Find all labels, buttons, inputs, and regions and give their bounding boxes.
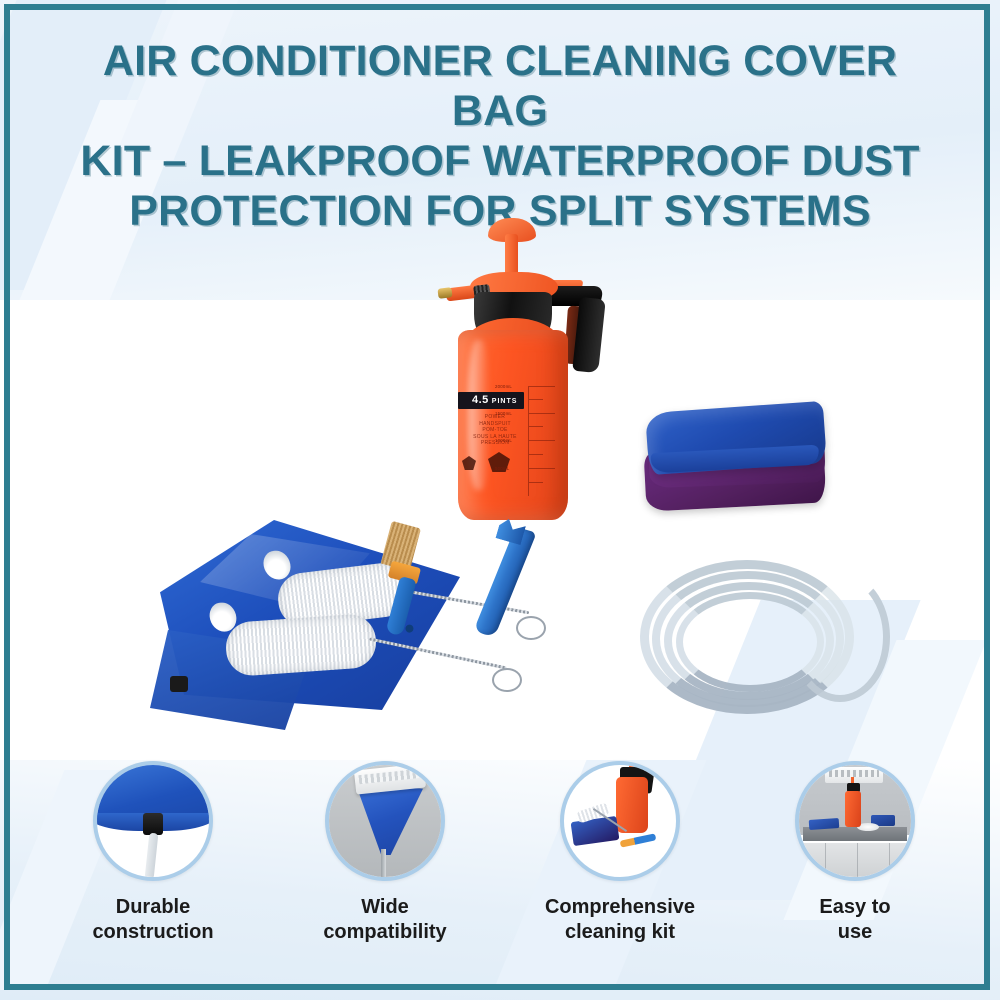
sprayer-capacity-label: 4.5PINTS: [458, 392, 524, 409]
table-sprayer-bottle: [845, 791, 861, 827]
drain-hose-illustration: [145, 833, 159, 880]
cover-bag-drain-clip: [170, 676, 188, 692]
product-infographic: AIR CONDITIONER CLEANING COVER BAG KIT –…: [0, 0, 1000, 1000]
tube-brush-bristles: [224, 613, 377, 677]
sprayer-hazard-symbols: [462, 452, 532, 478]
table-towel-left: [809, 818, 840, 830]
sprayer-measure-scale: 2000mL 1500mL 1000mL 500mL: [528, 386, 569, 496]
feature-label-comprehensive-cleaning-kit: Comprehensive cleaning kit: [505, 895, 735, 945]
hose-coil-free-end: [790, 572, 890, 702]
sprayer-capacity-value: 4.5: [472, 394, 489, 406]
feature-label-easy-to-use: Easy to use: [740, 895, 970, 945]
scale-label-1000: 1000mL: [495, 438, 512, 443]
room-floor: [799, 843, 911, 877]
scale-label-1500: 1500mL: [495, 411, 512, 416]
plastic-pry-tool: [480, 520, 560, 640]
floor-tile-line: [857, 843, 858, 877]
feature-image-comprehensive-cleaning-kit: [560, 761, 680, 881]
floor-tile-line: [889, 843, 890, 877]
tube-brush-wire-loop: [492, 668, 522, 692]
feature-easy-to-use: Easy to use: [740, 761, 970, 945]
grommet-icon: [143, 813, 163, 835]
floor-tile-line: [825, 843, 826, 877]
wall-ac-unit-icon: [825, 767, 883, 783]
sprayer-nozzle-tip: [437, 287, 452, 299]
feature-label-durable-construction: Durable construction: [38, 895, 268, 945]
feature-comprehensive-cleaning-kit: Comprehensive cleaning kit: [505, 761, 735, 945]
scale-tick: [529, 386, 555, 387]
scale-tick: [529, 482, 543, 483]
ac-vent-lines: [358, 769, 419, 784]
hazard-icon-1: [462, 456, 476, 470]
sprayer-capacity-unit: PINTS: [492, 398, 518, 405]
scale-tick: [529, 426, 543, 427]
brush-hang-hole: [405, 624, 413, 632]
pressure-sprayer-bottle: 4.5PINTS POWER HANDSPUIT POM-TOE SOUS LA…: [440, 200, 640, 530]
product-stage: 4.5PINTS POWER HANDSPUIT POM-TOE SOUS LA…: [0, 190, 1000, 750]
kit-sprayer-bottle: [616, 777, 648, 833]
clear-drain-hose-coil: [640, 560, 880, 735]
scale-tick: [529, 399, 543, 400]
feature-label-wide-compatibility: Wide compatibility: [270, 895, 500, 945]
scale-label-2000: 2000mL: [495, 384, 512, 389]
scale-tick: [529, 454, 543, 455]
feature-image-wide-compatibility: [325, 761, 445, 881]
feature-wide-compatibility: Wide compatibility: [270, 761, 500, 945]
microfiber-towels: [645, 405, 845, 520]
scale-tick: [529, 413, 555, 414]
kit-hand-tools: [620, 833, 657, 847]
feature-row: Durable construction Wide compatibility: [0, 755, 1000, 990]
pry-tool-body: [473, 527, 536, 637]
tube-brush-wire: [369, 637, 507, 669]
scale-tick: [529, 440, 555, 441]
drain-pipe-illustration: [381, 849, 386, 879]
scale-label-500: 500mL: [495, 466, 509, 471]
feature-durable-construction: Durable construction: [38, 761, 268, 945]
ac-vent-lines: [829, 770, 879, 777]
scale-tick: [529, 468, 555, 469]
feature-image-durable-construction: [93, 761, 213, 881]
feature-image-easy-to-use: [795, 761, 915, 881]
